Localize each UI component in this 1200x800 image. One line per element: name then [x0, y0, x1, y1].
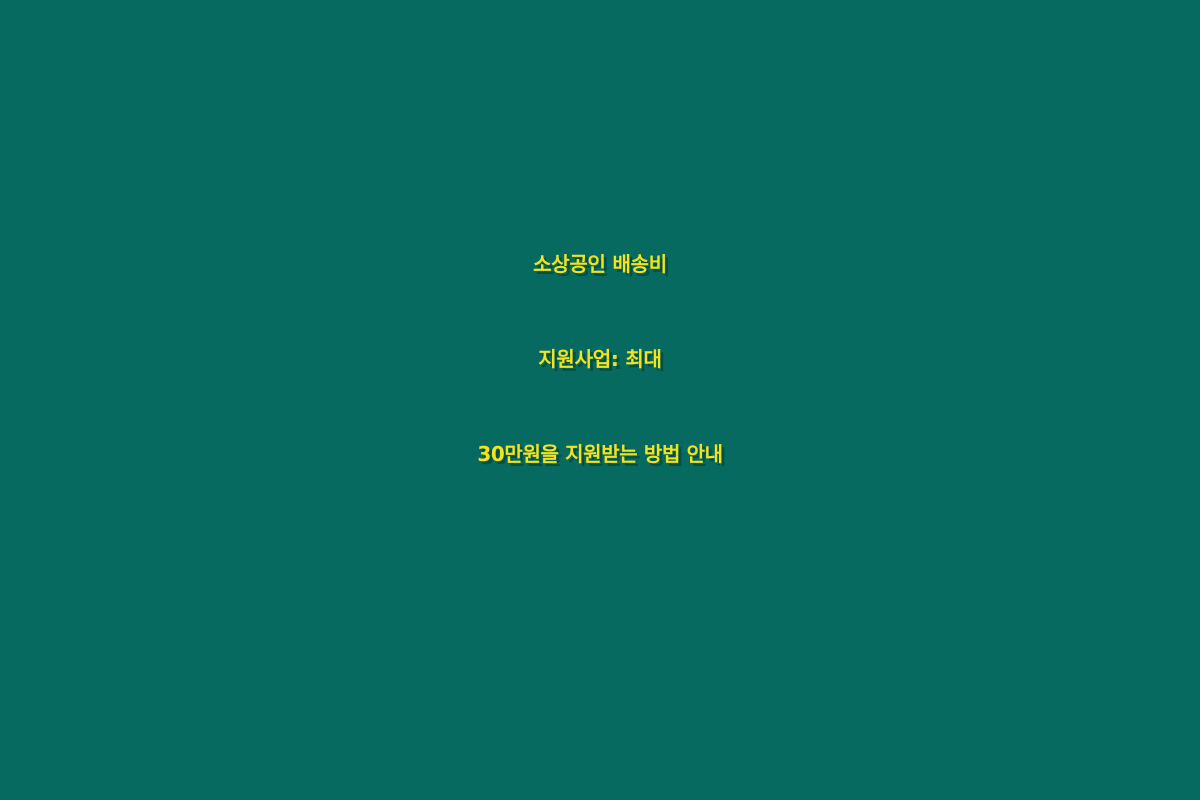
headline-line-2: 지원사업: 최대 [0, 312, 1200, 407]
headline-line-3: 30만원을 지원받는 방법 안내 [0, 407, 1200, 502]
headline-block: 소상공인 배송비 지원사업: 최대 30만원을 지원받는 방법 안내 [0, 217, 1200, 584]
headline-line-1: 소상공인 배송비 [0, 217, 1200, 312]
promo-banner: 소상공인 배송비 지원사업: 최대 30만원을 지원받는 방법 안내 [0, 0, 1200, 800]
